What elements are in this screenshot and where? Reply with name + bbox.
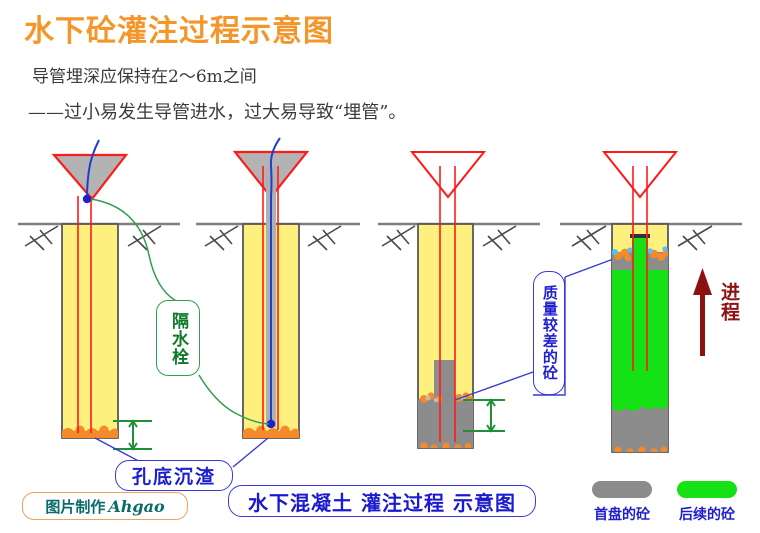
diagram-caption: 水下混凝土 灌注过程 示意图 <box>228 485 536 517</box>
plug-marker-1 <box>83 195 91 203</box>
credit-signature: Ahgao <box>108 497 164 516</box>
callout-plug: 隔水栓 <box>156 300 200 376</box>
hopper-4 <box>604 152 676 197</box>
process-diagram <box>0 0 760 533</box>
stage-3-first-batch-placed <box>412 152 616 452</box>
credit-prefix: 图片制作 <box>45 496 105 517</box>
credit-badge: 图片制作 Ahgao <box>22 492 188 520</box>
legend-label-later-batch: 后续的砼 <box>671 504 743 524</box>
leader-bad-concrete-4 <box>565 258 616 277</box>
legend: 首盘的砼 后续的砼 <box>586 478 756 528</box>
stage-2-plug-descending <box>95 138 307 467</box>
progress-label: 进程 <box>716 282 738 322</box>
borehole-1 <box>62 224 118 438</box>
ground-hatch-marks <box>25 226 712 250</box>
legend-swatch-later-batch <box>677 481 737 498</box>
concrete-fill-4 <box>612 234 669 456</box>
stage-1-plug-at-top <box>54 140 176 449</box>
progress-arrow <box>693 268 712 356</box>
callout-bad-concrete: 质量较差的砼 <box>533 271 565 395</box>
callout-sediment: 孔底沉渣 <box>115 460 233 491</box>
legend-swatch-first-batch <box>592 481 652 498</box>
stage-4-continuous-pour <box>604 152 712 456</box>
legend-label-first-batch: 首盘的砼 <box>586 504 658 524</box>
slide-canvas: 水下砼灌注过程示意图 导管埋深应保持在2～6m之间 ——过小易发生导管进水，过大… <box>0 0 760 533</box>
hopper-3 <box>412 152 484 197</box>
